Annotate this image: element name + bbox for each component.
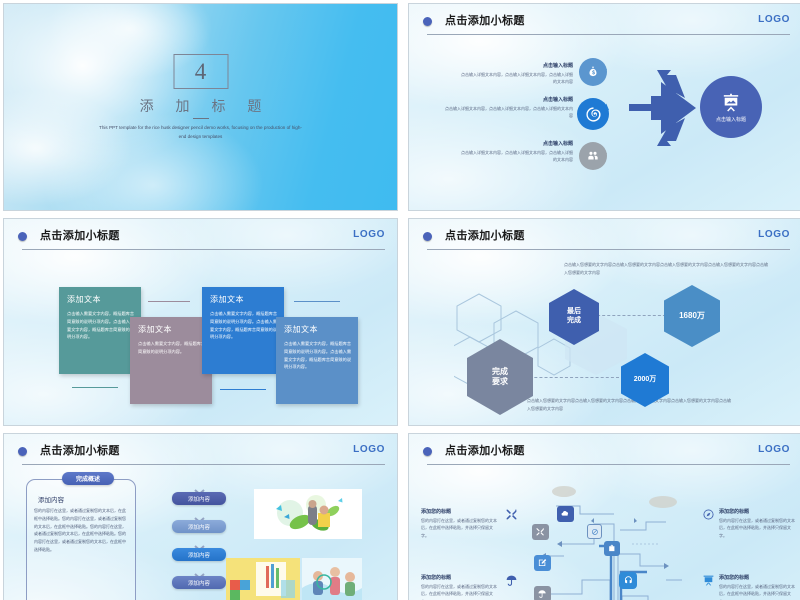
projector-icon: [702, 574, 715, 587]
feature-block-2[interactable]: 添加您的标题 您的内容打在这里，或者通过复制您的文本后，在此框中选择粘贴，并选择…: [421, 574, 499, 600]
node-edit-icon[interactable]: [534, 555, 551, 571]
block-body: 您的内容打在这里，或者通过复制您的文本后，在此框中选择粘贴，并选择只保留文字。: [421, 583, 499, 600]
result-label: 点击输入标题: [716, 116, 746, 123]
box-title: 添加文本: [284, 324, 351, 335]
money-bag-icon[interactable]: [579, 58, 607, 86]
step-label: 添加内容: [188, 523, 210, 531]
item-body: 点击输入详细文本内容，点击输入详细文本内容，点击输入详细的文本内容: [461, 149, 573, 163]
title-underline: [193, 118, 209, 119]
page-title: 点击添加小标题: [445, 227, 525, 243]
block-body: 您的内容打在这里，或者通过复制您的文本后，在此框中选择粘贴，并选择只保留文字。: [719, 583, 797, 600]
content-box[interactable]: 添加文本 点击输入需要文字内容，概括题库言简意赅的说明分项内容。点击输入需要文字…: [276, 317, 358, 404]
logo-text: LOGO: [353, 229, 385, 240]
bullet-dot-icon: [18, 447, 27, 456]
logo-text: LOGO: [353, 444, 385, 455]
section-number: 4: [195, 60, 207, 83]
step-label: 添加内容: [188, 551, 210, 559]
slide-thumbnail-4[interactable]: 点击添加小标题 LOGO 点击输入您想要的文字内容点击输入您想要的文字内容点击输…: [408, 218, 800, 426]
feature-block-1[interactable]: 添加您的标题 您的内容打在这里，或者通过复制您的文本后，在此框中选择粘贴，并选择…: [421, 508, 499, 539]
slide-header: 点击添加小标题 LOGO: [423, 443, 790, 463]
content-box[interactable]: 添加文本 点击输入需要文字内容，概括题库言简意赅的说明分项内容。点击输入需要文字…: [59, 287, 141, 374]
status-badge: 完成概述: [62, 472, 114, 485]
hexagon-label: 1680万: [679, 311, 705, 321]
box-body: 点击输入需要文字内容，概括题库言简意赅的说明分项内容。点击输入需要文字内容，概括…: [210, 310, 277, 341]
converging-arrows-icon: [627, 62, 697, 154]
cover-subtitle: This PPT template for the rice husk desi…: [96, 124, 306, 141]
slide-thumbnail-6[interactable]: 点击添加小标题 LOGO: [408, 433, 800, 600]
hexagon-label: 完成 要求: [492, 367, 508, 387]
slide-thumbnail-5[interactable]: 点击添加小标题 LOGO 完成概述 添加内容 您的内容打在这里，或者通过复制您的…: [3, 433, 398, 600]
chevron-down-icon: [194, 538, 205, 544]
node-bag-icon[interactable]: [604, 541, 620, 556]
cover-title: 添 加 标 题: [131, 96, 271, 116]
page-title: 点击添加小标题: [40, 442, 120, 458]
photo-stationery: [226, 558, 300, 600]
chevron-down-icon: [194, 482, 205, 488]
item-body: 点击输入详细文本内容，点击输入详细文本内容，点击输入详细的文本内容: [461, 71, 573, 85]
result-circle[interactable]: 点击输入标题: [700, 76, 762, 138]
logo-text: LOGO: [758, 229, 790, 240]
list-item[interactable]: 点击输入标题 点击输入详细文本内容，点击输入详细文本内容，点击输入详细的文本内容: [461, 62, 573, 85]
feature-block-4[interactable]: 添加您的标题 您的内容打在这里，或者通过复制您的文本后，在此框中选择粘贴，并选择…: [719, 574, 797, 600]
page-title: 点击添加小标题: [445, 12, 525, 28]
item-title: 点击输入标题: [461, 62, 573, 69]
node-support-icon[interactable]: [619, 572, 637, 589]
logo-text: LOGO: [758, 444, 790, 455]
header-divider: [22, 249, 385, 250]
page-title: 点击添加小标题: [445, 442, 525, 458]
bullet-dot-icon: [423, 17, 432, 26]
slide-header: 点击添加小标题 LOGO: [423, 228, 790, 248]
box-body: 点击输入需要文字内容，概括题库言简意赅的说明分项内容。点击输入需要文字内容，概括…: [284, 340, 351, 371]
content-box[interactable]: 添加文本 点击输入需要文字内容，概括题库言简意赅的说明分项内容。: [130, 317, 212, 404]
box-body: 点击输入需要文字内容，概括题库言简意赅的说明分项内容。点击输入需要文字内容，概括…: [67, 310, 134, 341]
slide-header: 点击添加小标题 LOGO: [423, 13, 790, 33]
header-divider: [427, 249, 790, 250]
step-button-1[interactable]: 添加内容: [172, 492, 226, 505]
box-title: 添加文本: [67, 294, 134, 305]
chevron-down-icon: [194, 510, 205, 516]
box-body: 点击输入需要文字内容，概括题库言简意赅的说明分项内容。: [138, 340, 205, 356]
umbrella-icon: [505, 574, 518, 587]
header-divider: [427, 464, 790, 465]
item-title: 点击输入标题: [445, 96, 573, 103]
card-title: 添加内容: [38, 494, 64, 504]
node-block-icon[interactable]: [587, 524, 602, 539]
slide-thumbnail-1[interactable]: 4 添 加 标 题 This PPT template for the rice…: [3, 3, 398, 211]
block-body: 您的内容打在这里，或者通过复制您的文本后，在此框中选择粘贴，并选择只保留文字。: [421, 517, 499, 539]
feature-block-3[interactable]: 添加您的标题 您的内容打在这里，或者通过复制您的文本后，在此框中选择粘贴，并选择…: [719, 508, 797, 539]
connector-line: [587, 315, 671, 316]
photo-students: [302, 558, 362, 600]
arrow-icon: [148, 301, 190, 302]
list-item[interactable]: 点击输入标题 点击输入详细文本内容，点击输入详细文本内容，点击输入详细的文本内容: [445, 96, 573, 119]
page-title: 点击添加小标题: [40, 227, 120, 243]
slide-thumbnail-3[interactable]: 点击添加小标题 LOGO 添加文本 点击输入需要文字内容，概括题库言简意赅的说明…: [3, 218, 398, 426]
logo-text: LOGO: [758, 14, 790, 25]
slide-header: 点击添加小标题 LOGO: [18, 228, 385, 248]
header-divider: [427, 34, 790, 35]
hexagon-label: 最后 完成: [567, 308, 581, 326]
list-item[interactable]: 点击输入标题 点击输入详细文本内容，点击输入详细文本内容，点击输入详细的文本内容: [461, 140, 573, 163]
item-body: 点击输入详细文本内容，点击输入详细文本内容，点击输入详细的文本内容: [445, 105, 573, 119]
tools-icon: [505, 508, 518, 521]
compass-icon: [702, 508, 715, 521]
step-label: 添加内容: [188, 495, 210, 503]
top-paragraph: 点击输入您想要的文字内容点击输入您想要的文字内容点击输入您想要的文字内容点击输入…: [564, 261, 769, 276]
slide-thumbnail-grid: 4 添 加 标 题 This PPT template for the rice…: [0, 0, 800, 600]
arrow-icon: [294, 301, 340, 302]
bullet-dot-icon: [423, 232, 432, 241]
block-title: 添加您的标题: [719, 508, 797, 515]
node-cloud-icon[interactable]: [557, 506, 574, 522]
header-divider: [22, 464, 385, 465]
arrow-icon: [220, 389, 266, 390]
spiral-icon[interactable]: [577, 98, 609, 130]
step-label: 添加内容: [188, 579, 210, 587]
item-title: 点击输入标题: [461, 140, 573, 147]
content-box[interactable]: 添加文本 点击输入需要文字内容，概括题库言简意赅的说明分项内容。点击输入需要文字…: [202, 287, 284, 374]
card-body: 您的内容打在这里，或者通过复制您的文本后，在此框中选择粘贴。您的内容打在这里，或…: [34, 507, 126, 554]
node-umbrella-icon[interactable]: [534, 586, 551, 600]
box-title: 添加文本: [138, 324, 205, 335]
bullet-dot-icon: [423, 447, 432, 456]
slide-thumbnail-2[interactable]: 点击添加小标题 LOGO 点击输入标题 点击输入详细文本内容，点击输入详细文本内…: [408, 3, 800, 211]
block-title: 添加您的标题: [421, 508, 499, 515]
step-button-3[interactable]: 添加内容: [172, 548, 226, 561]
hexagon-label: 2000万: [634, 376, 657, 385]
box-title: 添加文本: [210, 294, 277, 305]
block-body: 您的内容打在这里，或者通过复制您的文本后，在此框中选择粘贴，并选择只保留文字。: [719, 517, 797, 539]
chevron-down-icon: [194, 566, 205, 572]
step-button-4[interactable]: 添加内容: [172, 576, 226, 589]
bullet-dot-icon: [18, 232, 27, 241]
step-button-2[interactable]: 添加内容: [172, 520, 226, 533]
slide-header: 点击添加小标题 LOGO: [18, 443, 385, 463]
connector-line: [519, 377, 619, 378]
arrow-icon: [72, 387, 118, 388]
section-number-box: 4: [173, 54, 228, 89]
people-icon[interactable]: [579, 142, 607, 170]
block-title: 添加您的标题: [421, 574, 499, 581]
photo-nature: [254, 489, 362, 539]
block-title: 添加您的标题: [719, 574, 797, 581]
node-tools-icon[interactable]: [532, 524, 549, 540]
